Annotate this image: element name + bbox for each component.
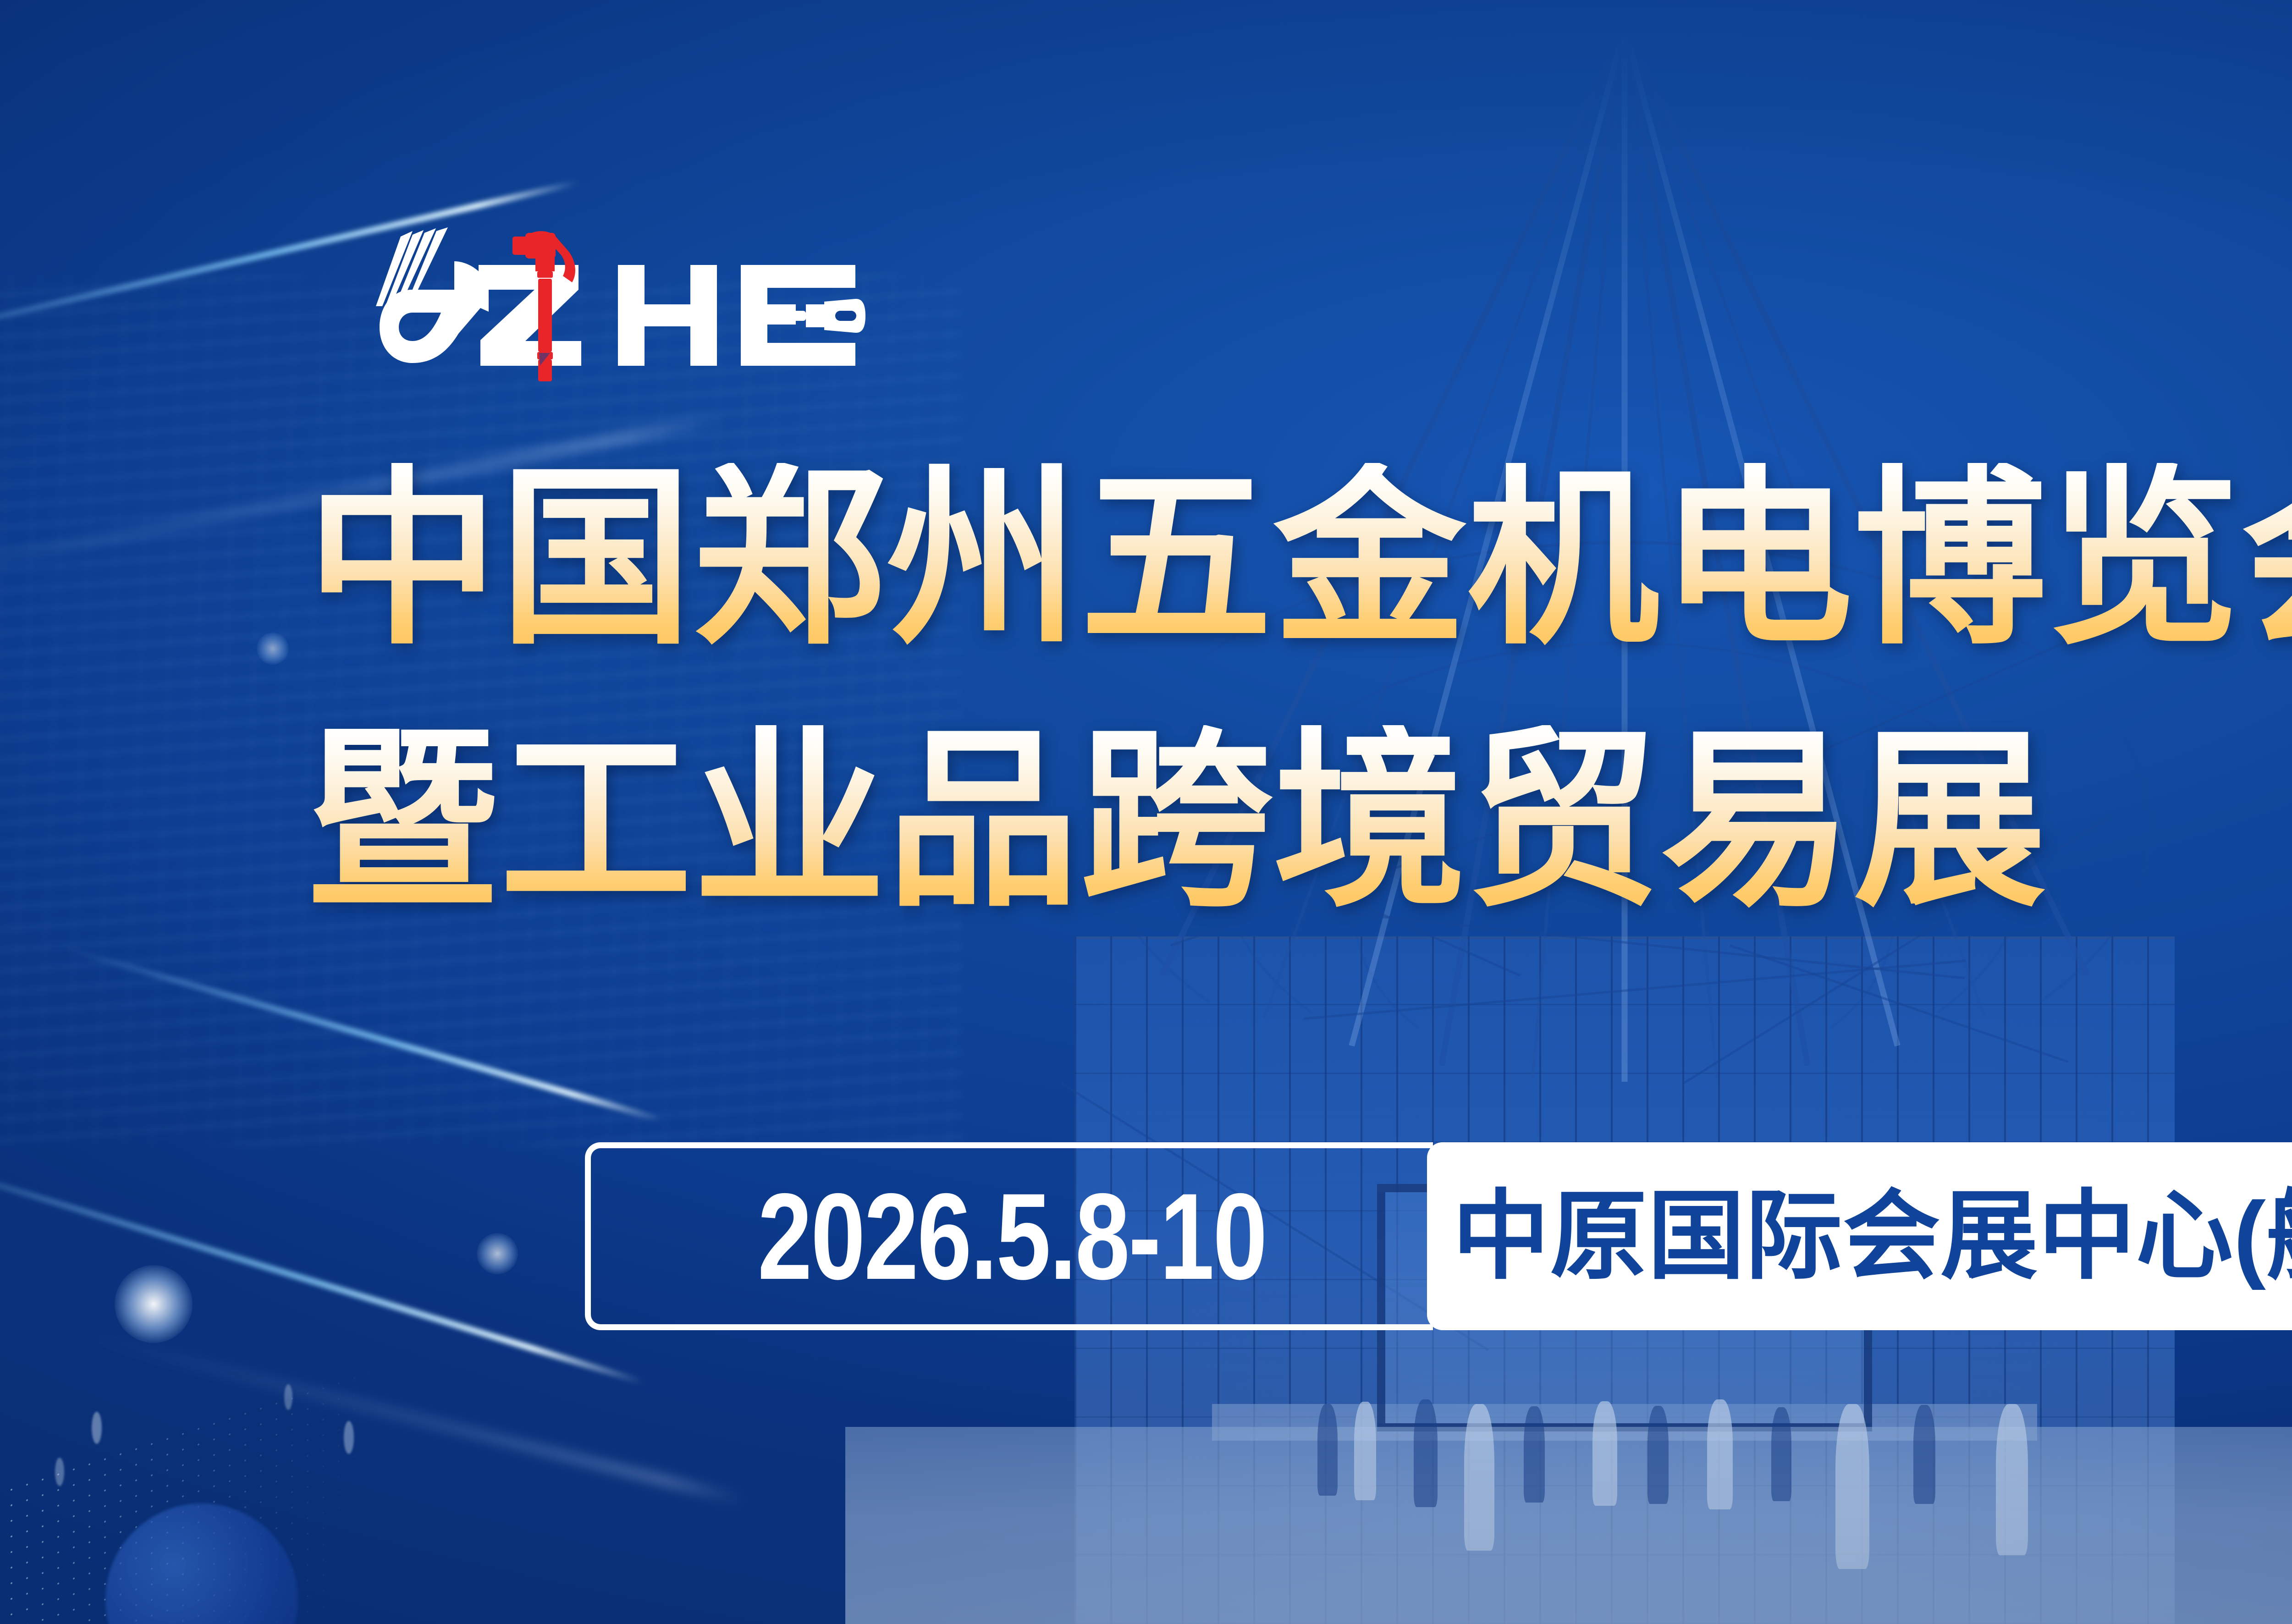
event-date: 2026.5.8-10	[758, 1175, 1266, 1298]
logo-letter-c-icon	[376, 227, 489, 363]
screwdriver-icon	[774, 299, 865, 333]
logo-letter-z-icon	[479, 265, 581, 366]
event-title: 中国郑州五金机电博览会 暨工业品跨境贸易展	[306, 463, 2292, 918]
logo-letter-h-icon	[618, 265, 717, 366]
bokeh-glow	[115, 1265, 193, 1343]
title-line-2: 暨工业品跨境贸易展	[306, 725, 2292, 918]
bokeh-glow	[477, 1233, 518, 1274]
bokeh-glow	[257, 633, 289, 665]
title-line-1: 中国郑州五金机电博览会	[306, 463, 2292, 655]
event-info-bar: 2026.5.8-10 中原国际会展中心(航空港区)	[585, 1142, 2292, 1330]
event-venue: 中原国际会展中心(航空港区)	[1452, 1188, 2292, 1285]
date-badge[interactable]: 2026.5.8-10	[585, 1142, 1433, 1330]
exhibition-banner: 中国郑州五金机电博览会 暨工业品跨境贸易展 2026.5.8-10 中原国际会展…	[0, 0, 2292, 1624]
venue-badge[interactable]: 中原国际会展中心(航空港区)	[1427, 1142, 2292, 1330]
czhe-logo[interactable]	[343, 226, 902, 381]
bokeh-pill	[92, 1412, 102, 1444]
